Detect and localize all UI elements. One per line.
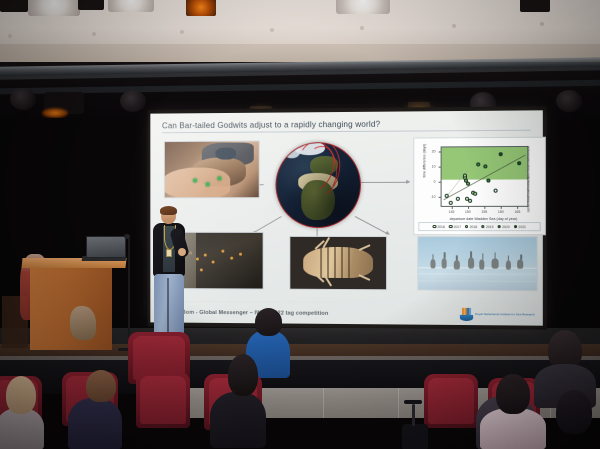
audience-member-1-head <box>6 376 36 414</box>
ceiling-vent <box>28 0 80 16</box>
chart-x-tick-label: 160 <box>498 210 504 214</box>
chart-y-tick <box>439 197 442 198</box>
chart-legend-item-2018: 2018 <box>465 225 477 229</box>
chart-point-2021 <box>499 152 503 156</box>
chart-point-2020 <box>483 164 487 168</box>
ceiling-downlight <box>92 32 96 36</box>
audience-member-3-body <box>210 392 266 448</box>
slide-footer: Roeland Bom - Global Messenger – IWSG 20… <box>150 301 542 326</box>
ceiling-downlight <box>8 34 12 38</box>
chart-x-tick <box>451 206 452 209</box>
chart-x-tick-label: 150 <box>465 210 471 214</box>
audience-member-1-body <box>0 408 44 449</box>
rolling-bag-handle <box>412 404 415 426</box>
ceiling-downlight <box>452 24 456 28</box>
chart-right-label-earlier: earlier local environment <box>526 174 530 215</box>
legend-label: 2017 <box>454 225 461 229</box>
chart-legend-item-2017: 2017 <box>449 225 461 229</box>
stage-light <box>10 88 36 110</box>
legend-label: 2018 <box>470 225 477 229</box>
ceiling-spot <box>520 0 550 12</box>
legend-marker-icon <box>465 225 468 228</box>
legend-label: 2021 <box>519 225 527 229</box>
ceiling-downlight <box>270 28 274 32</box>
chart-y-tick-label: 0 <box>434 180 436 184</box>
legend-label: 2016 <box>437 225 444 229</box>
nioz-logo-text: Royal Netherlands Institute for Sea Rese… <box>475 313 534 317</box>
legend-label: 2019 <box>486 225 494 229</box>
ceiling-spot <box>78 0 104 10</box>
wading-birds-photo <box>417 236 537 291</box>
nioz-logo: Royal Netherlands Institute for Sea Rese… <box>460 308 535 322</box>
chart-x-tick <box>517 206 518 209</box>
chart-x-tick-label: 155 <box>481 210 487 214</box>
migration-chart: 145150155160165 -1001020 time difference… <box>413 137 546 236</box>
slide-title: Can Bar-tailed Godwits adjust to a rapid… <box>162 119 535 131</box>
chart-legend-item-2020: 2020 <box>498 225 510 229</box>
ceiling <box>0 0 600 46</box>
globe-migration-map <box>275 142 361 228</box>
audience-member-3-head <box>228 354 258 396</box>
laptop-screen <box>86 236 126 258</box>
ceiling-downlight <box>360 26 364 30</box>
audience-member-7-head <box>496 374 530 414</box>
rolling-bag <box>402 424 428 449</box>
chart-point-2016 <box>456 196 460 200</box>
legend-marker-icon <box>498 225 501 228</box>
chart-y-tick <box>439 152 442 153</box>
chart-trend-line <box>442 147 528 206</box>
ceiling-vent <box>108 0 154 12</box>
nioz-logo-icon <box>460 308 473 321</box>
chart-x-tick-label: 145 <box>449 210 455 214</box>
chart-x-tick <box>484 206 485 209</box>
ceiling-spot <box>0 0 28 12</box>
audience-member-4-head <box>70 306 96 340</box>
stage-light <box>120 90 146 112</box>
chart-plot-area: 145150155160165 -1001020 <box>441 146 529 207</box>
chart-y-tick <box>439 167 442 168</box>
ceiling-downlight <box>540 22 544 26</box>
auditorium-photo: Can Bar-tailed Godwits adjust to a rapid… <box>0 0 600 449</box>
chart-legend: 201620172018201920202021 <box>418 222 540 231</box>
name-badge <box>166 249 172 257</box>
chart-x-tick <box>468 206 469 209</box>
slide-body: 145150155160165 -1001020 time difference… <box>158 135 534 295</box>
legend-marker-icon <box>481 225 484 228</box>
audience-member-2-head <box>86 370 116 402</box>
crustacean-prey-photo <box>289 236 387 290</box>
chart-y-tick-label: -10 <box>431 195 436 199</box>
presenter <box>148 208 192 350</box>
chart-point-2021 <box>517 161 521 165</box>
projection-screen: Can Bar-tailed Godwits adjust to a rapid… <box>150 110 542 325</box>
chart-legend-item-2016: 2016 <box>433 225 445 229</box>
audience-member-8-head <box>556 390 592 434</box>
presentation-slide: Can Bar-tailed Godwits adjust to a rapid… <box>150 110 542 325</box>
audience <box>0 330 600 449</box>
legend-marker-icon <box>449 225 452 228</box>
chart-x-tick-label: 165 <box>515 210 521 214</box>
legend-marker-icon <box>514 225 517 228</box>
stage-light-glow <box>42 108 68 118</box>
truss-pipe <box>0 80 600 94</box>
chart-y-axis-label: time difference (days) <box>422 134 426 186</box>
audience-member-standing-head <box>255 308 282 336</box>
chart-point-2016 <box>449 201 453 205</box>
ceiling-spot-lit <box>186 0 216 16</box>
arrow-to-water-photo <box>355 216 389 235</box>
audience-member-7-body <box>480 408 546 449</box>
audience-member-2-body <box>68 398 122 449</box>
arrow-to-chart <box>361 182 409 183</box>
chart-point-2019 <box>466 182 470 186</box>
rolling-bag-grip <box>404 400 422 404</box>
chart-point-2017 <box>468 199 472 203</box>
chart-point-2020 <box>476 162 480 166</box>
chart-legend-item-2021: 2021 <box>514 225 526 229</box>
chart-y-tick-label: 10 <box>432 165 436 169</box>
title-divider <box>162 130 531 134</box>
chart-y-tick-label: 20 <box>432 150 436 154</box>
chart-y-tick <box>439 182 442 183</box>
chart-x-axis-label: departure date Wadden Sea (day of year) <box>441 217 527 221</box>
legend-label: 2020 <box>502 225 510 229</box>
ceiling-vent <box>336 0 390 14</box>
chart-x-tick <box>501 206 502 209</box>
chart-legend-item-2019: 2019 <box>481 225 493 229</box>
stage-light <box>556 90 582 112</box>
legend-marker-icon <box>433 225 436 228</box>
ceiling-downlight <box>180 30 184 34</box>
godwit-in-hand-photo <box>164 141 260 199</box>
